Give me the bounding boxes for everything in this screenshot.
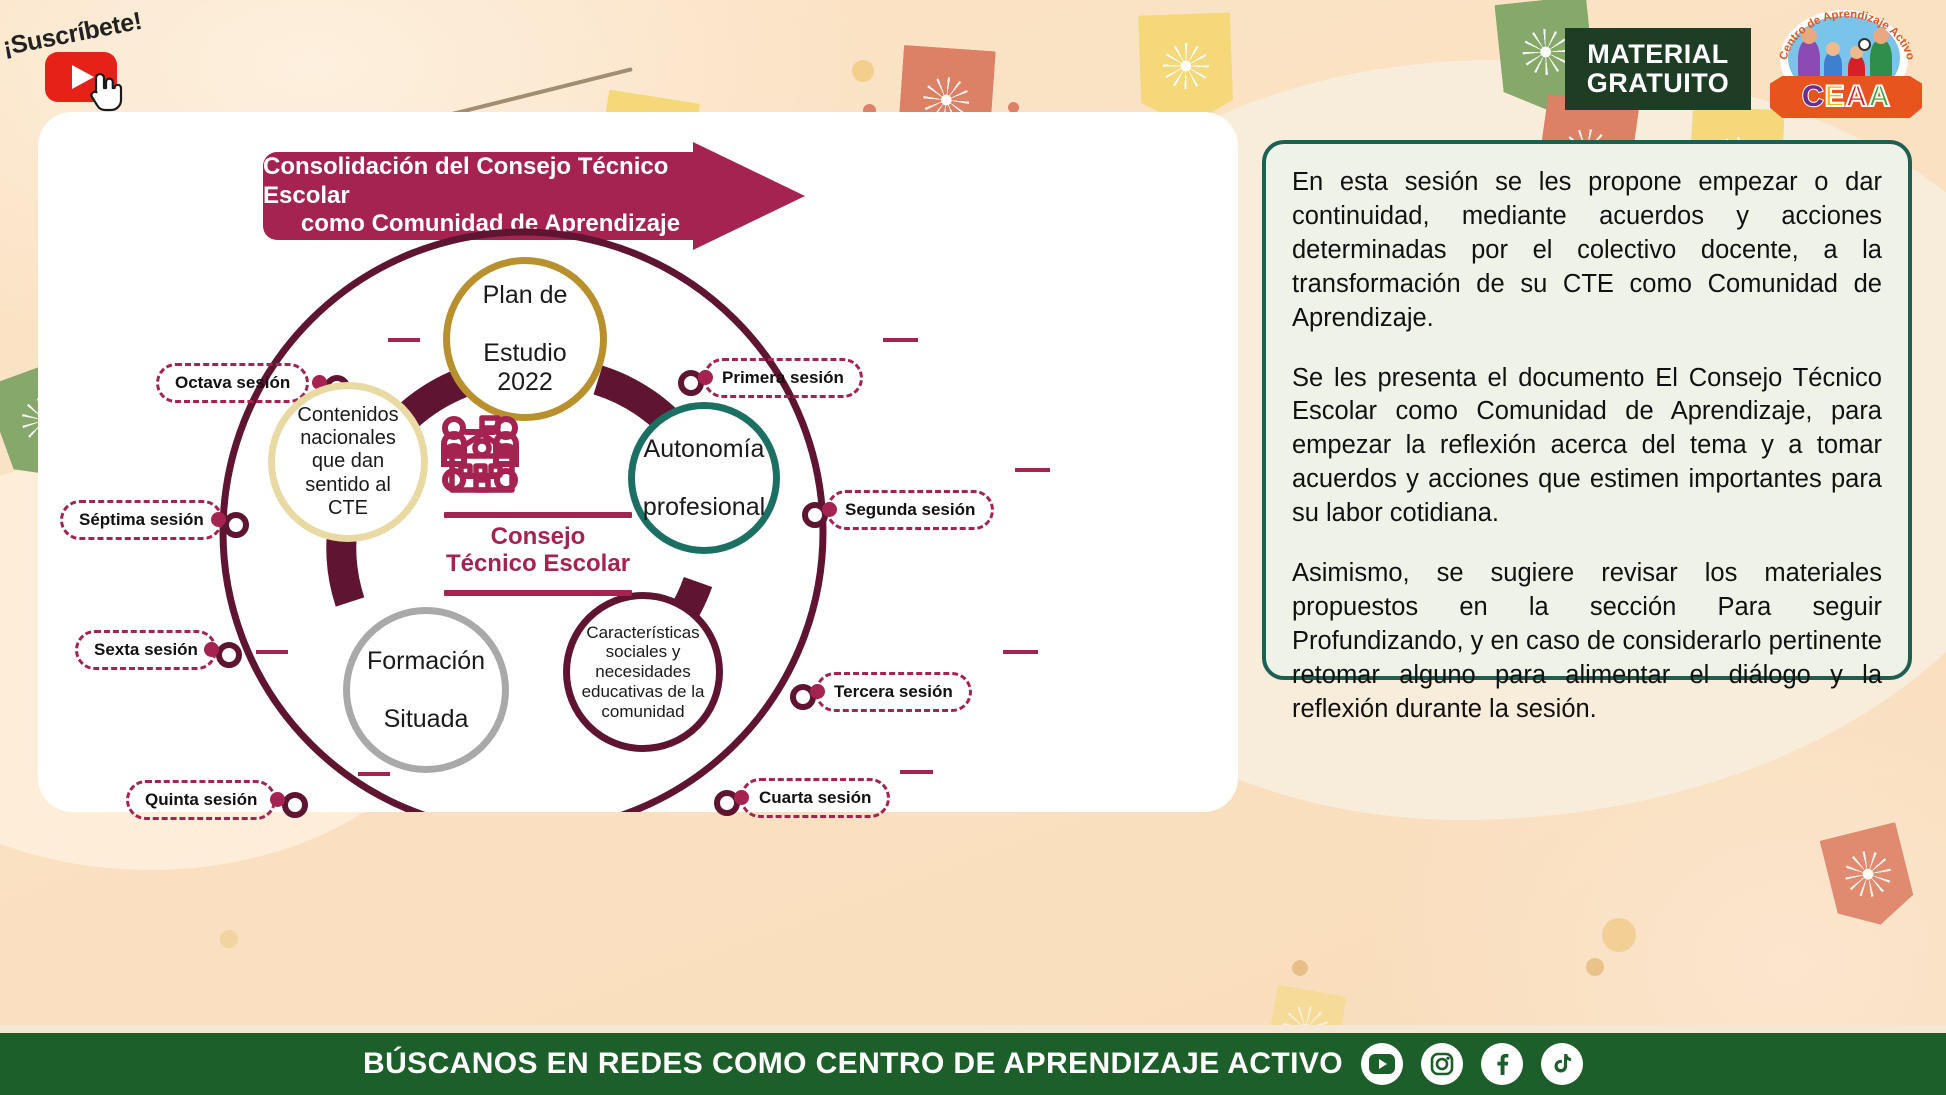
- node-contenidos-nacionales[interactable]: Contenidos nacionales que dan sentido al…: [268, 382, 428, 542]
- node-conten-label: Contenidos nacionales que dan sentido al…: [275, 404, 421, 520]
- logo-letter-a1: A: [1846, 80, 1868, 114]
- pointer-hand-icon: [88, 66, 128, 114]
- footer-label: BÚSCANOS EN REDES COMO CENTRO DE APRENDI…: [363, 1047, 1343, 1081]
- session-label-segunda: Segunda sesión: [845, 500, 975, 519]
- logo-letter-c: C: [1802, 80, 1824, 114]
- panel-paragraph-1: En esta sesión se les propone empezar o …: [1292, 166, 1882, 336]
- node-form-line2: Situada: [359, 705, 493, 734]
- ceaa-logo: Centro de Aprendizaje Activo C E A A: [1766, 8, 1926, 120]
- center-title: Consejo Técnico Escolar: [438, 518, 638, 582]
- node-form-line1: Formación: [359, 647, 493, 676]
- session-pill-septima[interactable]: Séptima sesión: [60, 500, 223, 540]
- session-label-primera: Primera sesión: [722, 368, 844, 387]
- session-label-cuarta: Cuarta sesión: [759, 788, 871, 807]
- node-auto-line1: Autonomía: [635, 435, 773, 464]
- node-plan-estudio[interactable]: Plan de Estudio 2022: [443, 257, 607, 421]
- svg-text:Centro de Aprendizaje Activo: Centro de Aprendizaje Activo: [1778, 9, 1917, 62]
- node-plan-line1: Plan de: [458, 281, 592, 310]
- tiktok-icon[interactable]: [1541, 1043, 1583, 1085]
- session-pill-octava[interactable]: Octava sesión: [156, 363, 309, 403]
- ring-node-sexta: [216, 642, 242, 668]
- footer-strip: [0, 1025, 1946, 1033]
- center-icon-row: [438, 412, 638, 504]
- center-title-line1: Consejo: [491, 523, 586, 550]
- logo-letter-e: E: [1825, 80, 1845, 114]
- ring-node-septima: [223, 512, 249, 538]
- logo-arc-text: Centro de Aprendizaje Activo: [1772, 8, 1922, 68]
- panel-paragraph-2: Se les presenta el documento El Consejo …: [1292, 362, 1882, 532]
- instagram-icon[interactable]: [1421, 1043, 1463, 1085]
- logo-letter-a2: A: [1868, 80, 1890, 114]
- session-label-sexta: Sexta sesión: [94, 640, 198, 659]
- session-pill-tercera[interactable]: Tercera sesión: [815, 672, 972, 712]
- material-gratuito-badge: MATERIAL GRATUITO: [1565, 28, 1751, 110]
- cte-cycle-diagram: Primera sesión Segunda sesión Tercera se…: [38, 112, 1238, 812]
- session-label-septima: Séptima sesión: [79, 510, 204, 529]
- session-pill-sexta[interactable]: Sexta sesión: [75, 630, 217, 670]
- diagram-center: Consejo Técnico Escolar: [438, 412, 638, 612]
- session-label-tercera: Tercera sesión: [834, 682, 953, 701]
- logo-ribbon: C E A A: [1770, 76, 1922, 118]
- ring-node-quinta: [282, 792, 308, 818]
- session-pill-segunda[interactable]: Segunda sesión: [826, 490, 994, 530]
- node-auto-line2: profesional: [635, 493, 773, 522]
- material-line-2: GRATUITO: [1587, 69, 1730, 98]
- node-plan-line2: Estudio 2022: [458, 339, 592, 397]
- facebook-icon[interactable]: [1481, 1043, 1523, 1085]
- school-building-icon: [438, 412, 526, 500]
- session-label-quinta: Quinta sesión: [145, 790, 257, 809]
- panel-paragraph-3: Asimismo, se sugiere revisar los materia…: [1292, 557, 1882, 727]
- node-caracteristicas-sociales[interactable]: Características sociales y necesidades e…: [563, 592, 723, 752]
- material-line-1: MATERIAL: [1587, 40, 1728, 69]
- session-description-panel: En esta sesión se les propone empezar o …: [1262, 140, 1912, 680]
- main-content-card: Consolidación del Consejo Técnico Escola…: [38, 112, 1238, 812]
- youtube-icon[interactable]: [1361, 1043, 1403, 1085]
- session-pill-quinta[interactable]: Quinta sesión: [126, 780, 276, 820]
- subscribe-badge[interactable]: ¡Suscríbete!: [0, 8, 210, 118]
- node-formacion-situada[interactable]: Formación Situada: [343, 607, 509, 773]
- node-carac-label: Características sociales y necesidades e…: [570, 623, 716, 722]
- session-pill-primera[interactable]: Primera sesión: [703, 358, 863, 398]
- session-pill-cuarta[interactable]: Cuarta sesión: [740, 778, 890, 818]
- node-autonomia-profesional[interactable]: Autonomía profesional: [628, 402, 780, 554]
- center-title-line2: Técnico Escolar: [446, 550, 630, 577]
- footer-bar: BÚSCANOS EN REDES COMO CENTRO DE APRENDI…: [0, 1033, 1946, 1095]
- session-label-octava: Octava sesión: [175, 373, 290, 392]
- center-rule-bottom: [444, 590, 632, 596]
